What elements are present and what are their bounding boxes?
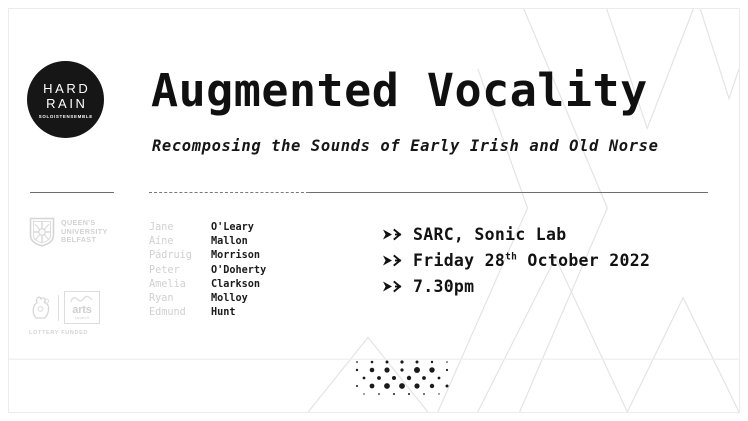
detail-venue-row: SARC, Sonic Lab <box>383 221 650 247</box>
performer-last-name: Morrison <box>211 249 260 263</box>
list-item: Pádruig Morrison <box>149 249 266 263</box>
performer-first-name: Pádruig <box>149 249 211 263</box>
performer-last-name: Mallon <box>211 235 248 249</box>
list-item: Peter O'Doherty <box>149 264 266 278</box>
performer-last-name: O'Leary <box>211 221 254 235</box>
performer-first-name: Aíne <box>149 235 211 249</box>
performer-last-name: Molloy <box>211 292 248 306</box>
detail-time: 7.30pm <box>413 277 474 296</box>
event-details: SARC, Sonic Lab Friday 28th October 2022 <box>383 221 650 299</box>
national-lottery-hand-icon <box>29 294 53 322</box>
list-item: Amelia Clarkson <box>149 278 266 292</box>
performer-last-name: Hunt <box>211 306 236 320</box>
arts-council-word: arts <box>72 305 91 316</box>
performer-first-name: Jane <box>149 221 211 235</box>
performer-first-name: Edmund <box>149 306 211 320</box>
double-arrow-icon <box>383 280 413 293</box>
arts-council-subword: council <box>75 316 90 321</box>
double-arrow-icon <box>383 228 413 241</box>
divider-dashed <box>149 192 309 193</box>
sponsor-logos: QUEEN'S UNIVERSITY BELFAST arts council … <box>29 217 134 336</box>
detail-time-row: 7.30pm <box>383 273 650 299</box>
performer-first-name: Peter <box>149 264 211 278</box>
list-item: Jane O'Leary <box>149 221 266 235</box>
detail-date: Friday 28th October 2022 <box>413 251 650 270</box>
queens-university-wordmark: QUEEN'S UNIVERSITY BELFAST <box>61 219 108 244</box>
list-item: Aíne Mallon <box>149 235 266 249</box>
arts-council-lottery-logo: arts council <box>29 291 134 324</box>
detail-venue: SARC, Sonic Lab <box>413 225 567 244</box>
brand-line-2: RAIN <box>43 96 87 111</box>
performer-list: Jane O'Leary Aíne Mallon Pádruig Morriso… <box>149 221 266 320</box>
detail-date-post: October 2022 <box>517 251 650 270</box>
lottery-funded-label: LOTTERY FUNDED <box>29 330 134 336</box>
queens-university-crest-icon <box>29 217 55 247</box>
divider-right <box>309 192 708 193</box>
performer-first-name: Ryan <box>149 292 211 306</box>
brand-line-1: HARD <box>41 81 91 96</box>
divider-left <box>30 192 114 193</box>
hard-rain-circle-logo: HARD RAIN SOLOISTENSEMBLE <box>27 61 104 138</box>
poster-header: HARD RAIN SOLOISTENSEMBLE Augmented Voca… <box>9 9 739 179</box>
list-item: Edmund Hunt <box>149 306 266 320</box>
performer-first-name: Amelia <box>149 278 211 292</box>
arts-council-mark: arts council <box>64 291 100 324</box>
detail-date-ordinal: th <box>505 251 517 262</box>
page-subtitle: Recomposing the Sounds of Early Irish an… <box>152 137 659 155</box>
halftone-dot-pattern <box>347 357 459 399</box>
qub-line-3: BELFAST <box>61 236 108 244</box>
detail-date-pre: Friday 28 <box>413 251 505 270</box>
queens-university-logo: QUEEN'S UNIVERSITY BELFAST <box>29 217 134 247</box>
detail-date-row: Friday 28th October 2022 <box>383 247 650 273</box>
list-item: Ryan Molloy <box>149 292 266 306</box>
page-title: Augmented Vocality <box>151 65 648 117</box>
performer-last-name: Clarkson <box>211 278 260 292</box>
double-arrow-icon <box>383 254 413 267</box>
poster-slide: HARD RAIN SOLOISTENSEMBLE Augmented Voca… <box>8 8 740 413</box>
performer-last-name: O'Doherty <box>211 264 266 278</box>
logo-divider <box>58 295 59 321</box>
brand-line-3: SOLOISTENSEMBLE <box>38 114 93 119</box>
